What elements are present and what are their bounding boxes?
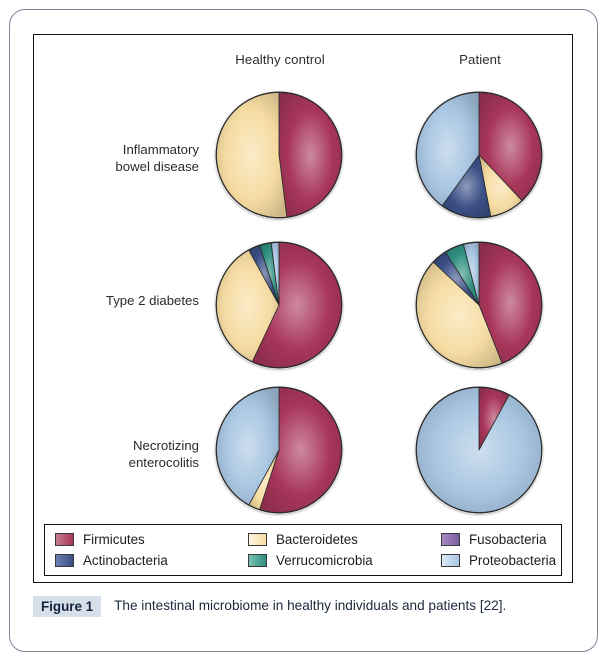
legend-label: Bacteroidetes [276,532,358,547]
row-label-line: Necrotizing [9,437,199,454]
row-label-type-2-diabetes: Type 2 diabetes [9,292,199,309]
pie-chart-t2d-healthy-control [215,241,343,369]
pie-chart-t2d-patient [415,241,543,369]
legend-label: Actinobacteria [83,553,168,568]
pie-chart-nec-healthy-control [215,386,343,514]
row-label-line: enterocolitis [9,454,199,471]
legend-item-verrucomicrobia: Verrucomicrobia [248,553,441,568]
row-label-line: Inflammatory [9,141,199,158]
row-label-line: bowel disease [9,158,199,175]
column-header-healthy-control: Healthy control [215,52,345,67]
legend-item-firmicutes: Firmicutes [55,532,248,547]
legend-item-proteobacteria: Proteobacteria [441,553,556,568]
column-header-patient: Patient [415,52,545,67]
figure-caption-text: The intestinal microbiome in healthy ind… [114,596,573,616]
legend-grid: Firmicutes Bacteroidetes Fusobacteria Ac… [55,529,553,571]
figure-caption: Figure 1 The intestinal microbiome in he… [33,596,573,617]
pie-chart-ibd-patient [415,91,543,219]
legend: Firmicutes Bacteroidetes Fusobacteria Ac… [44,524,562,576]
legend-label: Firmicutes [83,532,145,547]
legend-swatch-icon [441,554,460,567]
legend-label: Proteobacteria [469,553,556,568]
legend-swatch-icon [441,533,460,546]
legend-swatch-icon [248,554,267,567]
pie-chart-ibd-healthy-control [215,91,343,219]
row-label-necrotizing-enterocolitis: Necrotizing enterocolitis [9,437,199,471]
figure-root: Healthy control Patient Inflammatory bow… [0,0,607,671]
legend-label: Verrucomicrobia [276,553,373,568]
legend-item-bacteroidetes: Bacteroidetes [248,532,441,547]
legend-swatch-icon [248,533,267,546]
legend-item-fusobacteria: Fusobacteria [441,532,556,547]
legend-item-actinobacteria: Actinobacteria [55,553,248,568]
legend-swatch-icon [55,533,74,546]
row-label-inflammatory-bowel-disease: Inflammatory bowel disease [9,141,199,175]
row-label-line: Type 2 diabetes [9,292,199,309]
legend-label: Fusobacteria [469,532,546,547]
pie-chart-nec-patient [415,386,543,514]
legend-swatch-icon [55,554,74,567]
figure-number-badge: Figure 1 [33,596,101,617]
